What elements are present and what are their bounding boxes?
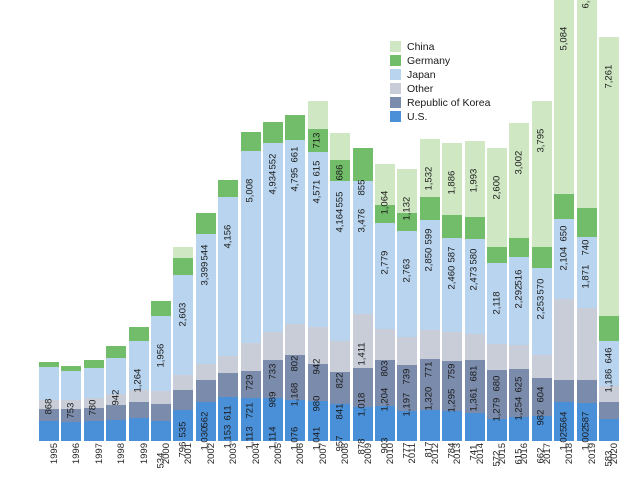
- bar-value-label: 1,254: [514, 397, 524, 421]
- bar-value-label: 1,204: [380, 388, 390, 412]
- bar-segment[interactable]: 741: [465, 413, 485, 441]
- bar-segment[interactable]: 4,156: [218, 197, 238, 356]
- bar-value-label: 1,320: [425, 387, 435, 411]
- bar-segment[interactable]: [61, 366, 81, 371]
- x-axis-tick: 2002: [196, 443, 218, 483]
- bar-value-label: 580: [470, 249, 480, 265]
- x-axis-tick-label: 2011: [408, 443, 418, 463]
- x-axis-tick-label: 2004: [252, 443, 262, 464]
- bar-value-label: 7,261: [604, 65, 614, 89]
- bar-segment[interactable]: 552: [263, 122, 283, 143]
- bar-value-label: 822: [335, 372, 345, 388]
- x-axis-tick: 2006: [285, 443, 307, 483]
- bar-value-label: 733: [268, 364, 278, 380]
- x-axis-tick-label: 2005: [274, 443, 284, 464]
- x-axis-tick-label: 2010: [386, 443, 396, 464]
- bar-column[interactable]: 5341,956: [151, 0, 171, 441]
- bar-value-label: 771: [425, 361, 435, 377]
- legend-swatch-icon: [390, 41, 401, 52]
- legend-swatch-icon: [390, 69, 401, 80]
- bar-value-label: 982: [537, 410, 547, 426]
- bar-value-label: 587: [582, 412, 592, 428]
- bar-value-label: 4,571: [313, 180, 323, 204]
- x-axis-tick: 2019: [577, 443, 599, 483]
- bar-column[interactable]: 5831,1866467,261: [599, 0, 619, 441]
- bar-value-label: 681: [470, 366, 480, 382]
- bar-value-label: 942: [313, 359, 323, 375]
- bar-value-label: 4,164: [335, 209, 345, 233]
- legend-item[interactable]: Republic of Korea: [390, 96, 530, 110]
- bar-value-label: 615: [313, 160, 323, 176]
- bar-segment[interactable]: 2,779: [375, 223, 395, 330]
- bar-column[interactable]: 942: [106, 0, 126, 441]
- bar-segment[interactable]: 1,132: [397, 169, 417, 212]
- bar-value-label: 680: [492, 376, 502, 392]
- legend-label: Japan: [407, 70, 436, 81]
- bar-value-label: 1,993: [470, 169, 480, 193]
- x-axis-tick-label: 1995: [50, 443, 60, 464]
- bar-segment[interactable]: 1,411: [353, 314, 373, 368]
- bar-segment[interactable]: [151, 301, 171, 316]
- legend-swatch-icon: [390, 111, 401, 122]
- bar-segment[interactable]: 625: [509, 345, 529, 369]
- bar-value-label: 6,560: [582, 0, 592, 8]
- bar-value-label: 780: [89, 400, 99, 416]
- bar-value-label: 5,084: [559, 27, 569, 51]
- bar-column[interactable]: 8781,0181,4113,476855: [353, 0, 373, 441]
- bar-segment[interactable]: [39, 421, 59, 441]
- bar-segment[interactable]: [151, 404, 171, 420]
- bar-value-label: 570: [537, 278, 547, 294]
- bar-column[interactable]: 7965352,603: [173, 0, 193, 441]
- x-axis-tick: 2003: [218, 443, 240, 483]
- bar-value-label: 802: [290, 356, 300, 372]
- legend-swatch-icon: [390, 97, 401, 108]
- x-axis-tick: 2000: [151, 443, 173, 483]
- bar-value-label: 2,292: [514, 285, 524, 309]
- x-axis-tick: 1996: [61, 443, 83, 483]
- bar-value-label: 2,603: [178, 303, 188, 327]
- bar-segment[interactable]: [84, 421, 104, 441]
- bar-segment[interactable]: 587: [577, 380, 597, 403]
- bar-value-label: 2,600: [492, 175, 502, 199]
- legend-label: Other: [407, 84, 433, 95]
- bar-segment[interactable]: [554, 299, 574, 380]
- bar-value-label: 2,779: [380, 251, 390, 275]
- bar-value-label: 1,186: [604, 368, 614, 392]
- bar-segment[interactable]: [129, 327, 149, 341]
- x-axis-tick-label: 2017: [543, 443, 553, 464]
- bar-value-label: 611: [223, 406, 233, 421]
- bar-column[interactable]: 1,0419809424,571615713: [308, 0, 328, 441]
- bar-value-label: 4,156: [223, 224, 233, 248]
- bar-segment[interactable]: [173, 375, 193, 390]
- bar-value-label: 599: [425, 229, 435, 245]
- x-axis-tick-label: 2000: [162, 443, 172, 464]
- bar-segment[interactable]: 4,571: [308, 152, 328, 327]
- bar-value-label: 2,460: [447, 266, 457, 290]
- bar-segment[interactable]: 2,600: [487, 148, 507, 248]
- x-axis-tick-label: 2015: [498, 443, 508, 464]
- legend-label: Germany: [407, 56, 450, 67]
- bar-segment[interactable]: 5,008: [241, 151, 261, 343]
- bar-value-label: 989: [268, 392, 278, 408]
- x-axis-tick-label: 2006: [296, 443, 306, 464]
- bar-segment[interactable]: 942: [308, 327, 328, 363]
- bar-segment[interactable]: 535: [173, 390, 193, 411]
- bar-segment[interactable]: [173, 247, 193, 259]
- bar-segment[interactable]: 686: [330, 133, 350, 159]
- bar-value-label: 604: [537, 386, 547, 402]
- x-axis-tick-label: 2007: [319, 443, 329, 464]
- x-axis-tick-label: 2020: [610, 443, 620, 464]
- stacked-bar-chart: 8687537809421,2645341,9567965352,6031,03…: [0, 0, 624, 487]
- bar-segment[interactable]: 516: [509, 238, 529, 258]
- x-axis-tick: 2017: [532, 443, 554, 483]
- bar-segment[interactable]: 784: [442, 411, 462, 441]
- bar-segment[interactable]: 583: [599, 419, 619, 441]
- bar-segment[interactable]: 534: [151, 421, 171, 441]
- bar-segment[interactable]: 5,084: [554, 0, 574, 194]
- bar-segment[interactable]: 7,261: [599, 37, 619, 315]
- bar-segment[interactable]: 822: [330, 341, 350, 373]
- x-axis-tick: 2005: [263, 443, 285, 483]
- bar-segment[interactable]: 903: [375, 406, 395, 441]
- bar-value-label: 552: [268, 154, 278, 170]
- x-axis-tick: 2018: [554, 443, 576, 483]
- x-axis-tick-label: 2012: [431, 443, 441, 464]
- x-axis-tick: 1997: [84, 443, 106, 483]
- bar-segment[interactable]: 4,934: [263, 143, 283, 332]
- bar-value-label: 1,132: [402, 197, 412, 221]
- bar-value-label: 803: [380, 361, 390, 377]
- bar-segment[interactable]: 733: [263, 332, 283, 360]
- bar-column[interactable]: 780: [84, 0, 104, 441]
- legend-item[interactable]: Other: [390, 82, 530, 96]
- bar-segment[interactable]: [196, 364, 216, 380]
- bar-value-label: 3,476: [358, 209, 368, 233]
- bar-value-label: 1,168: [290, 383, 300, 407]
- bar-column[interactable]: 1,0025871,8717406,560: [577, 0, 597, 441]
- x-axis-tick-label: 1996: [72, 443, 82, 464]
- bar-value-label: 1,956: [156, 344, 166, 368]
- bar-value-label: 2,104: [559, 246, 569, 270]
- bar-value-label: 2,850: [425, 248, 435, 272]
- bar-segment[interactable]: [487, 247, 507, 262]
- bar-segment[interactable]: [106, 346, 126, 358]
- bar-value-label: 4,934: [268, 171, 278, 195]
- bar-value-label: 740: [582, 240, 592, 256]
- x-axis-tick: 2007: [308, 443, 330, 483]
- bar-segment[interactable]: [84, 360, 104, 368]
- bar-segment[interactable]: 572: [487, 419, 507, 441]
- bar-column[interactable]: 1,0761,1688024,795661: [285, 0, 305, 441]
- bar-value-label: 5,008: [246, 178, 256, 202]
- bar-value-label: 855: [358, 180, 368, 196]
- legend-swatch-icon: [390, 55, 401, 66]
- x-axis-tick: 2001: [173, 443, 195, 483]
- bar-segment[interactable]: 855: [353, 148, 373, 181]
- bar-segment[interactable]: 6,560: [577, 0, 597, 208]
- bar-value-label: 1,064: [380, 191, 390, 215]
- bar-column[interactable]: 1,264: [129, 0, 149, 441]
- x-axis-tick-label: 1999: [140, 443, 150, 464]
- bar-value-label: 544: [201, 244, 211, 260]
- bar-segment[interactable]: 604: [532, 355, 552, 378]
- bar-column[interactable]: 1,0255642,1046505,084: [554, 0, 574, 441]
- bar-value-label: 753: [66, 403, 76, 419]
- bar-segment[interactable]: 739: [397, 337, 417, 365]
- bar-segment[interactable]: 729: [241, 343, 261, 371]
- x-axis-tick-label: 2002: [207, 443, 217, 464]
- x-axis-tick: 2014: [465, 443, 487, 483]
- x-axis-tick-label: 2009: [364, 443, 374, 464]
- bar-segment[interactable]: 759: [442, 332, 462, 361]
- bar-segment[interactable]: 599: [420, 197, 440, 220]
- bar-segment[interactable]: 2,763: [397, 231, 417, 337]
- bar-value-label: 3,795: [537, 129, 547, 153]
- bar-segment[interactable]: [39, 362, 59, 367]
- x-axis-tick-label: 2003: [229, 443, 239, 464]
- x-axis-tick: 2013: [442, 443, 464, 483]
- x-axis-tick-label: 2019: [588, 443, 598, 464]
- bar-segment[interactable]: [129, 418, 149, 441]
- bar-segment[interactable]: 650: [554, 194, 574, 219]
- bar-value-label: 980: [313, 395, 323, 411]
- bar-column[interactable]: 868: [39, 0, 59, 441]
- bar-segment[interactable]: 1,018: [353, 368, 373, 407]
- plot-area: 8687537809421,2645341,9567965352,6031,03…: [0, 0, 624, 441]
- bar-value-label: 587: [447, 247, 457, 263]
- x-axis-tick: 2016: [509, 443, 531, 483]
- bar-segment[interactable]: 1,064: [375, 164, 395, 205]
- x-axis-tick-label: 2013: [453, 443, 463, 464]
- bar-segment[interactable]: 942: [106, 358, 126, 394]
- bar-segment[interactable]: 771: [420, 330, 440, 360]
- bar-segment[interactable]: 587: [442, 215, 462, 238]
- bar-segment[interactable]: 2,118: [487, 263, 507, 344]
- legend-swatch-icon: [390, 83, 401, 94]
- x-axis-tick: 1999: [129, 443, 151, 483]
- bar-segment[interactable]: [106, 420, 126, 441]
- bar-segment[interactable]: 681: [465, 334, 485, 360]
- bar-segment[interactable]: 1,532: [420, 139, 440, 198]
- bar-value-label: 661: [290, 147, 300, 163]
- bar-segment[interactable]: 646: [599, 316, 619, 341]
- x-axis-tick-label: 2008: [341, 443, 351, 464]
- bar-segment[interactable]: 544: [196, 213, 216, 234]
- x-axis-tick-label: 1997: [95, 443, 105, 464]
- bar-column[interactable]: 753: [61, 0, 81, 441]
- bar-value-label: 4,795: [290, 168, 300, 192]
- bar-segment[interactable]: 817: [420, 410, 440, 441]
- bar-value-label: 1,264: [134, 369, 144, 393]
- bar-value-label: 2,763: [402, 259, 412, 283]
- bar-segment[interactable]: [241, 132, 261, 150]
- bar-segment[interactable]: [218, 356, 238, 373]
- bar-segment[interactable]: 753: [61, 371, 81, 400]
- bar-segment[interactable]: 580: [465, 217, 485, 239]
- bar-value-label: 1,361: [470, 388, 480, 412]
- bar-segment[interactable]: 680: [487, 344, 507, 370]
- bar-value-label: 868: [44, 398, 54, 414]
- x-axis-tick: 2008: [330, 443, 352, 483]
- bar-segment[interactable]: 803: [375, 329, 395, 360]
- bar-segment[interactable]: 780: [84, 368, 104, 398]
- chart-legend: ChinaGermanyJapanOtherRepublic of KoreaU…: [390, 40, 530, 124]
- bar-segment[interactable]: 3,476: [353, 181, 373, 314]
- bar-value-label: 729: [246, 374, 256, 390]
- legend-item[interactable]: Japan: [390, 68, 530, 82]
- bar-value-label: 1,411: [358, 343, 368, 366]
- bar-segment[interactable]: 3,795: [532, 101, 552, 247]
- bar-value-label: 1,886: [447, 171, 457, 195]
- bar-value-label: 713: [313, 133, 323, 149]
- bar-segment[interactable]: [599, 402, 619, 418]
- bar-value-label: 516: [514, 269, 524, 285]
- bar-value-label: 535: [178, 422, 188, 438]
- bar-segment[interactable]: 3,002: [509, 123, 529, 238]
- x-axis-tick: 1998: [106, 443, 128, 483]
- bar-segment[interactable]: [151, 391, 171, 404]
- bar-segment[interactable]: [106, 405, 126, 420]
- bar-value-label: 2,253: [537, 296, 547, 320]
- bar-value-label: 2,473: [470, 267, 480, 291]
- bar-value-label: 3,399: [201, 261, 211, 285]
- x-axis-tick-label: 2001: [184, 443, 194, 464]
- bar-segment[interactable]: [129, 402, 149, 418]
- bar-segment[interactable]: 1,956: [151, 316, 171, 391]
- bar-value-label: 555: [335, 191, 345, 207]
- x-axis-tick-label: 2018: [565, 443, 575, 464]
- bar-column[interactable]: 1,1149897334,934552: [263, 0, 283, 441]
- bar-segment[interactable]: 713: [308, 101, 328, 128]
- bar-value-label: 650: [559, 225, 569, 241]
- bar-segment[interactable]: 802: [285, 324, 305, 355]
- bar-value-label: 562: [201, 412, 211, 428]
- x-axis-tick: 2011: [397, 443, 419, 483]
- bar-segment[interactable]: 4,795: [285, 140, 305, 324]
- bar-segment[interactable]: 2,603: [173, 275, 193, 375]
- x-axis-tick: 2015: [487, 443, 509, 483]
- bar-value-label: 841: [335, 404, 345, 420]
- bar-value-label: 1,532: [425, 166, 435, 190]
- legend-item[interactable]: China: [390, 40, 530, 54]
- legend-item[interactable]: U.S.: [390, 110, 530, 124]
- bar-value-label: 646: [604, 347, 614, 363]
- x-axis-tick: 2009: [353, 443, 375, 483]
- bar-value-label: 2,118: [492, 291, 502, 314]
- x-axis-tick: 1995: [39, 443, 61, 483]
- bar-segment[interactable]: 661: [285, 115, 305, 140]
- bar-value-label: 3,002: [514, 150, 524, 174]
- bar-segment[interactable]: 615: [509, 417, 529, 441]
- bar-value-label: 942: [111, 390, 121, 406]
- bar-segment[interactable]: 868: [39, 367, 59, 400]
- x-axis-tick: 2010: [375, 443, 397, 483]
- legend-item[interactable]: Germany: [390, 54, 530, 68]
- bar-value-label: 1,295: [447, 389, 457, 413]
- x-axis-tick-label: 2016: [520, 443, 530, 464]
- bar-column[interactable]: 1,0305623,399544: [196, 0, 216, 441]
- bar-column[interactable]: 9578418224,164555686: [330, 0, 350, 441]
- bar-segment[interactable]: [61, 422, 81, 441]
- bar-segment[interactable]: 740: [577, 208, 597, 236]
- x-axis-tick-label: 1998: [117, 443, 127, 464]
- bar-segment[interactable]: [173, 258, 193, 274]
- bar-segment[interactable]: [218, 180, 238, 196]
- legend-label: Republic of Korea: [407, 98, 490, 109]
- bar-segment[interactable]: 1,886: [442, 143, 462, 215]
- bar-column[interactable]: 1,1137217295,008: [241, 0, 261, 441]
- bar-segment[interactable]: 1,264: [129, 341, 149, 389]
- bar-column[interactable]: 1,1536114,156: [218, 0, 238, 441]
- bar-value-label: 1,871: [582, 264, 592, 288]
- bar-segment[interactable]: [577, 308, 597, 380]
- x-axis-tick-label: 2014: [476, 443, 486, 464]
- legend-label: China: [407, 42, 434, 53]
- bar-column[interactable]: 6629826042,2535703,795: [532, 0, 552, 441]
- bar-segment[interactable]: 1,993: [465, 141, 485, 217]
- bar-value-label: 721: [246, 402, 256, 418]
- bar-value-label: 759: [447, 364, 457, 380]
- bar-segment[interactable]: 564: [554, 380, 574, 402]
- x-axis-tick: 2004: [241, 443, 263, 483]
- bar-value-label: 739: [402, 369, 412, 385]
- bar-value-label: 1,279: [492, 398, 502, 422]
- bar-value-label: 686: [335, 165, 345, 181]
- bar-value-label: 564: [559, 412, 569, 428]
- legend-label: U.S.: [407, 112, 427, 123]
- bar-segment[interactable]: 570: [532, 247, 552, 269]
- bar-value-label: 1,197: [402, 393, 412, 417]
- bar-segment[interactable]: 562: [196, 380, 216, 402]
- x-axis-tick: 2012: [420, 443, 442, 483]
- x-axis-labels: 1995199619971998199920002001200220032004…: [0, 441, 624, 487]
- bar-segment[interactable]: 611: [218, 373, 238, 396]
- bar-value-label: 625: [514, 377, 524, 393]
- bar-value-label: 1,018: [358, 393, 368, 417]
- x-axis-tick: 2020: [599, 443, 621, 483]
